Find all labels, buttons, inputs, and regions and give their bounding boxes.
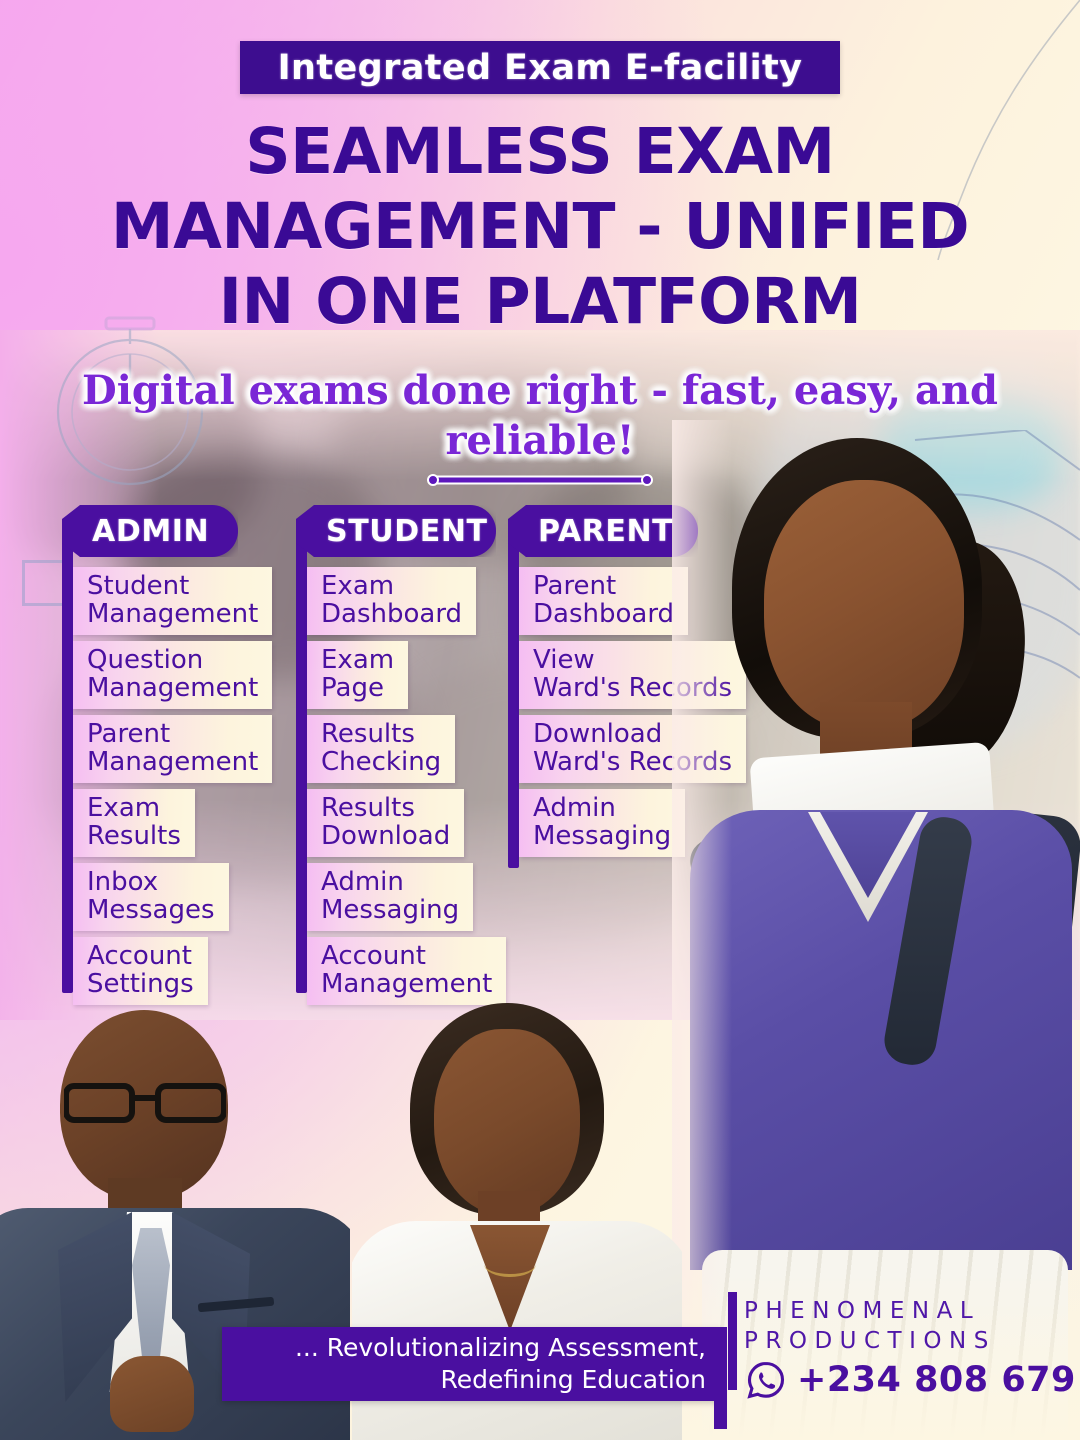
whatsapp-icon[interactable]: [746, 1360, 786, 1400]
contact-phone-row[interactable]: +234 808 679 2440: [746, 1360, 1080, 1400]
column-items-admin: Student Management Question Management P…: [73, 567, 318, 1011]
list-item[interactable]: Student Management: [73, 567, 272, 635]
list-item[interactable]: Exam Page: [307, 641, 408, 709]
column-spine: [508, 523, 519, 868]
tagline-banner: ... Revolutionalizing Assessment, Redefi…: [222, 1327, 722, 1401]
column-title: PARENT: [538, 514, 673, 549]
eyeglasses-icon: [64, 1082, 226, 1124]
list-item[interactable]: Parent Management: [73, 715, 272, 783]
kicker-text: Integrated Exam E-facility: [278, 48, 803, 88]
page-title: SEAMLESS EXAM MANAGEMENT - UNIFIED IN ON…: [0, 114, 1080, 339]
column-admin: ADMIN Student Management Question Manage…: [62, 505, 307, 557]
kicker-banner: Integrated Exam E-facility: [240, 41, 840, 94]
list-item[interactable]: Exam Dashboard: [307, 567, 476, 635]
list-item[interactable]: Account Settings: [73, 937, 208, 1005]
column-student: STUDENT Exam Dashboard Exam Page Results…: [296, 505, 541, 557]
column-header-parent: PARENT: [508, 505, 698, 557]
list-item[interactable]: Admin Messaging: [307, 863, 473, 931]
column-header-admin: ADMIN: [62, 505, 238, 557]
list-item[interactable]: Question Management: [73, 641, 272, 709]
phone-number[interactable]: +234 808 679 2440: [797, 1360, 1080, 1400]
list-item[interactable]: Results Download: [307, 789, 464, 857]
brand-accent-bar: [728, 1292, 737, 1390]
student-photo: [672, 420, 1080, 1440]
brand-block: PHENOMENAL PRODUCTIONS: [744, 1296, 1074, 1356]
column-header-student: STUDENT: [296, 505, 496, 557]
divider-line: [425, 472, 655, 488]
list-item[interactable]: Parent Dashboard: [519, 567, 688, 635]
column-title: STUDENT: [326, 514, 488, 549]
column-title: ADMIN: [92, 514, 209, 549]
list-item[interactable]: Admin Messaging: [519, 789, 685, 857]
brand-name-line-1: PHENOMENAL: [744, 1296, 1074, 1326]
list-item[interactable]: Results Checking: [307, 715, 455, 783]
column-spine: [62, 523, 73, 993]
column-spine: [296, 523, 307, 993]
brand-name-line-2: PRODUCTIONS: [744, 1326, 1074, 1356]
list-item[interactable]: Exam Results: [73, 789, 195, 857]
list-item[interactable]: Inbox Messages: [73, 863, 229, 931]
tagline-accent-bar: [714, 1327, 727, 1429]
tagline-text: ... Revolutionalizing Assessment, Redefi…: [295, 1332, 706, 1396]
poster-canvas: Integrated Exam E-facility SEAMLESS EXAM…: [0, 0, 1080, 1440]
